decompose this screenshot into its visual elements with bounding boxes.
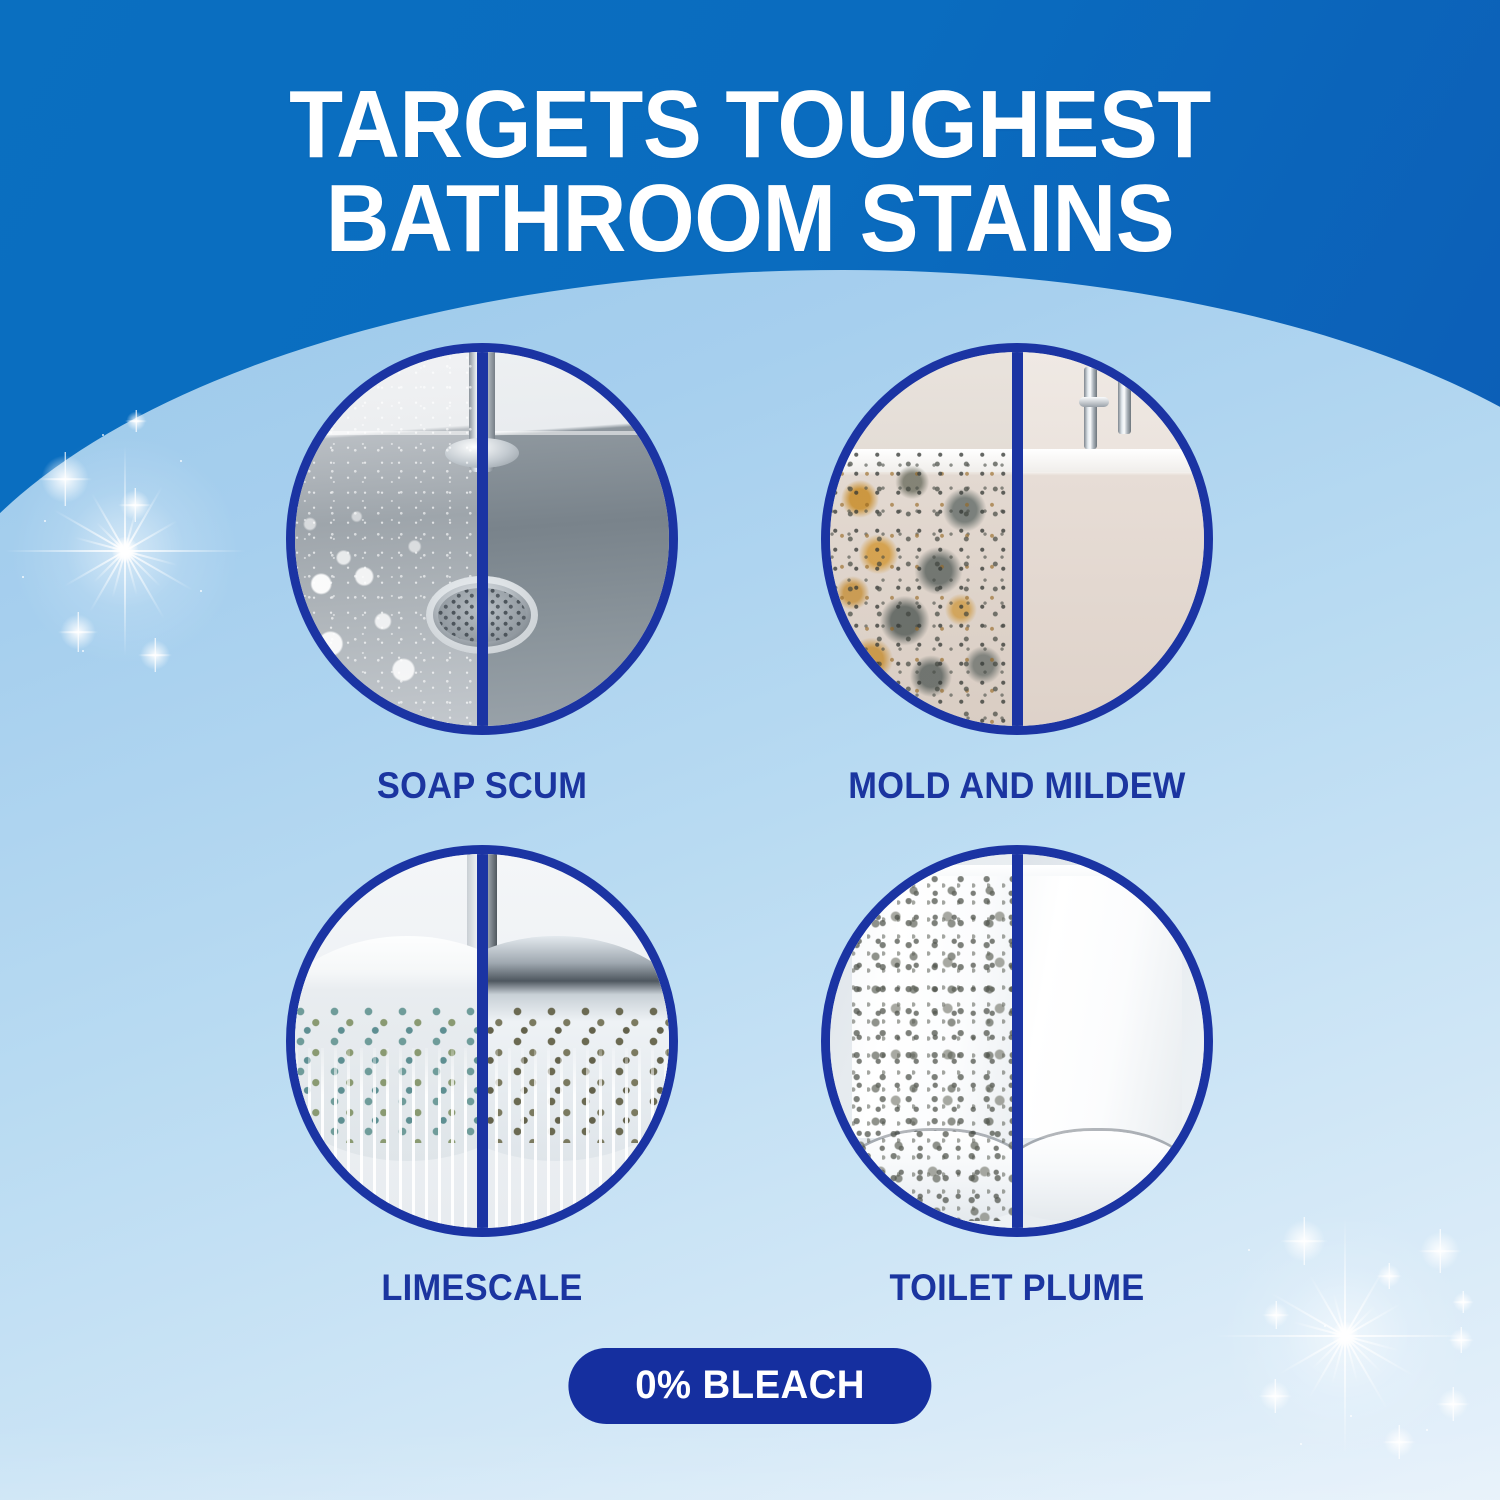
before-after-divider	[477, 848, 488, 1234]
mold-clean-half	[1017, 352, 1204, 726]
mold-dirty-half	[830, 352, 1017, 726]
stain-image-mold-and-mildew	[821, 343, 1213, 735]
drain-mesh	[438, 588, 482, 642]
stain-image-soap-scum	[286, 343, 678, 735]
mold-spores	[830, 449, 1017, 726]
toilet-tank-clean	[1017, 876, 1182, 1138]
before-after-divider	[477, 346, 488, 732]
grime-speckles	[837, 1131, 1017, 1221]
tap-spout-icon	[1079, 397, 1109, 407]
stain-image-toilet-plume	[821, 845, 1213, 1237]
limescale-clean-half	[482, 854, 669, 1228]
toilet-tank-dirty	[852, 876, 1017, 1138]
soap-scum-clean-half	[482, 352, 669, 726]
sink-rim	[482, 431, 669, 435]
toilet-bowl-dirty	[837, 1131, 1017, 1221]
water-stream	[295, 1048, 482, 1228]
stain-label-soap-scum: SOAP SCUM	[300, 765, 665, 807]
stain-label-toilet-plume: TOILET PLUME	[835, 1267, 1200, 1309]
before-after-divider	[1012, 346, 1023, 732]
stain-image-limescale	[286, 845, 678, 1237]
tub-lip	[1017, 449, 1204, 471]
drain-mesh	[482, 588, 526, 642]
water-stream	[482, 1048, 669, 1228]
promo-poster: TARGETS TOUGHEST BATHROOM STAINS	[0, 0, 1500, 1500]
tap-riser-icon	[1084, 367, 1097, 449]
toilet-dirty-half	[830, 854, 1017, 1228]
toilet-clean-half	[1017, 854, 1204, 1228]
stain-grid: SOAP SCUM	[0, 0, 1500, 1500]
bleach-free-badge[interactable]: 0% BLEACH	[568, 1348, 931, 1424]
bleach-free-badge-label: 0% BLEACH	[635, 1365, 865, 1405]
stain-label-limescale: LIMESCALE	[300, 1267, 665, 1309]
limescale-dirty-half	[295, 854, 482, 1228]
before-after-divider	[1012, 848, 1023, 1234]
drain-clean	[482, 576, 538, 654]
grime-speckles	[852, 876, 1017, 1138]
stain-label-mold-and-mildew: MOLD AND MILDEW	[835, 765, 1200, 807]
toilet-bowl-clean	[1017, 1131, 1197, 1221]
soap-speckle	[295, 352, 482, 726]
soap-scum-dirty-half	[295, 352, 482, 726]
faucet-base	[482, 438, 519, 468]
tap-riser-icon	[1118, 367, 1131, 434]
